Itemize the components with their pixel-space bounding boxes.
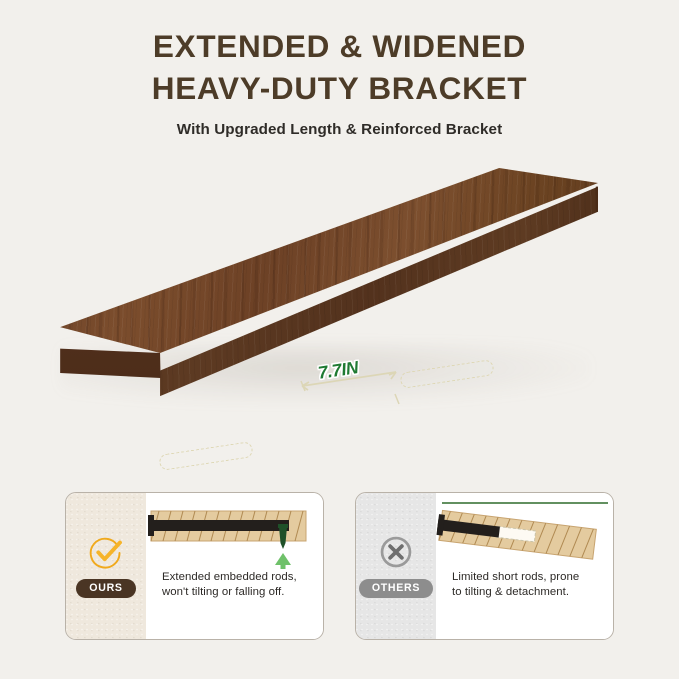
subheadline: With Upgraded Length & Reinforced Bracke… xyxy=(0,121,679,138)
dimension-annotation: 7.7IN xyxy=(296,360,416,428)
comparison-section: OURS xyxy=(0,492,679,644)
diagram-others xyxy=(436,493,613,571)
comparison-card-others: OTHERS xyxy=(355,492,614,640)
badge-others: OTHERS xyxy=(359,579,433,598)
x-circle-icon xyxy=(378,534,414,570)
caption-others: Limited short rods, prone to tilting & d… xyxy=(436,571,613,598)
card-others-content: Limited short rods, prone to tilting & d… xyxy=(436,493,613,639)
shelf-stage: 7.7IN Increased Contact Area, Load-Capac… xyxy=(0,148,679,478)
caption-ours: Extended embedded rods, won't tilting or… xyxy=(146,571,323,598)
diagram-ours xyxy=(146,493,323,571)
caption-ours-line-1: Extended embedded rods, xyxy=(162,571,323,583)
embedded-rod-diagram-long xyxy=(146,493,323,571)
headline-line-1: EXTENDED & WIDENED xyxy=(0,26,679,68)
short-rod-tilted-diagram xyxy=(436,493,613,571)
headline-line-2: HEAVY-DUTY BRACKET xyxy=(0,68,679,110)
check-circle-icon xyxy=(88,534,124,570)
caption-others-line-1: Limited short rods, prone xyxy=(452,571,613,583)
header: EXTENDED & WIDENED HEAVY-DUTY BRACKET Wi… xyxy=(0,0,679,138)
card-ours-content: Extended embedded rods, won't tilting or… xyxy=(146,493,323,639)
comparison-card-ours: OURS xyxy=(65,492,324,640)
card-ours-badge-panel: OURS xyxy=(66,493,146,639)
card-others-badge-panel: OTHERS xyxy=(356,493,436,639)
floating-shelf xyxy=(0,148,679,478)
hero-product-scene: 7.7IN Increased Contact Area, Load-Capac… xyxy=(0,148,679,478)
caption-ours-line-2: won't tilting or falling off. xyxy=(162,586,323,598)
caption-others-line-2: to tilting & detachment. xyxy=(452,586,613,598)
badge-ours: OURS xyxy=(76,579,135,598)
